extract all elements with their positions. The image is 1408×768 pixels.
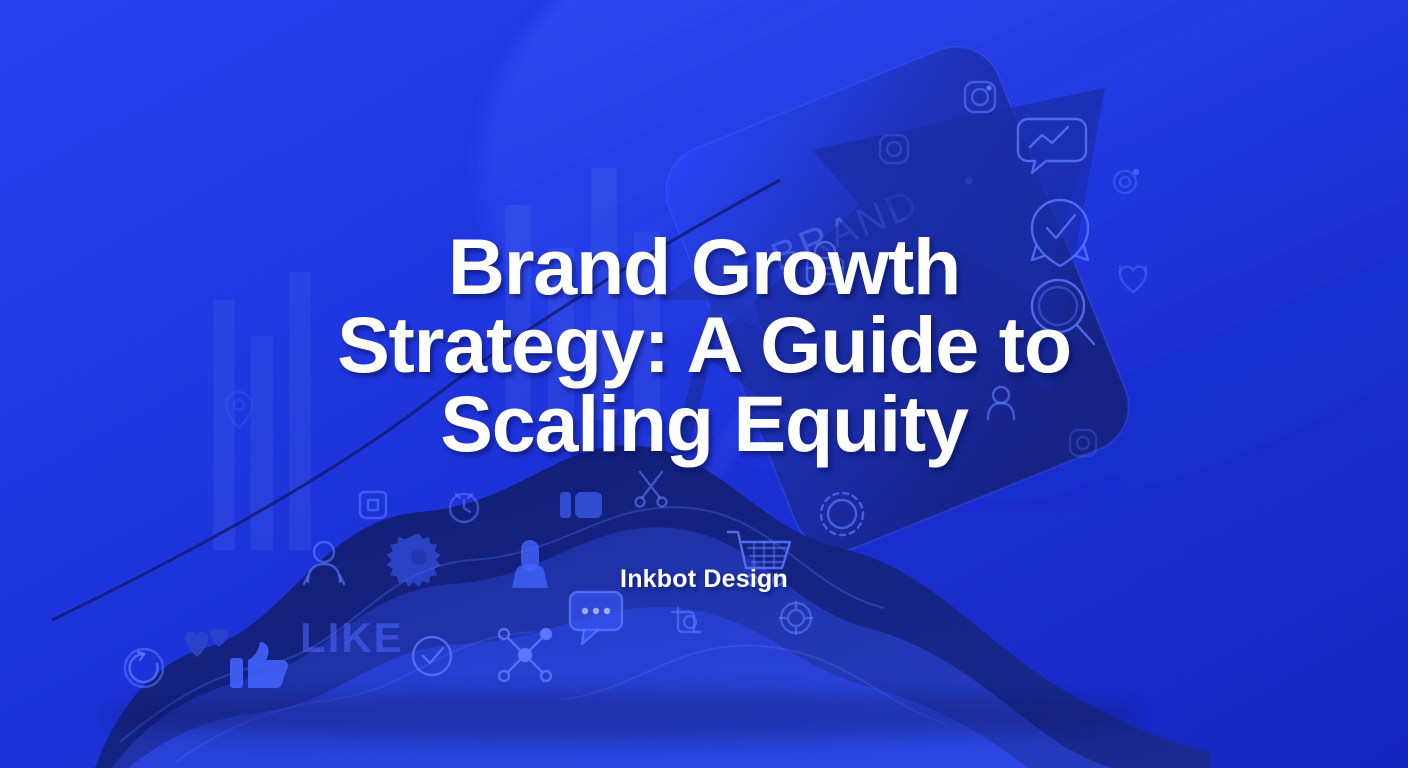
page-title: Brand Growth Strategy: A Guide to Scalin… <box>337 228 1071 463</box>
featured-image-canvas: BRAND <box>0 0 1408 768</box>
text-overlay: Brand Growth Strategy: A Guide to Scalin… <box>0 0 1408 768</box>
byline: Inkbot Design <box>620 565 788 594</box>
title-line-1: Brand Growth <box>337 228 1071 306</box>
title-line-3: Scaling Equity <box>337 385 1071 463</box>
title-line-2: Strategy: A Guide to <box>337 306 1071 384</box>
